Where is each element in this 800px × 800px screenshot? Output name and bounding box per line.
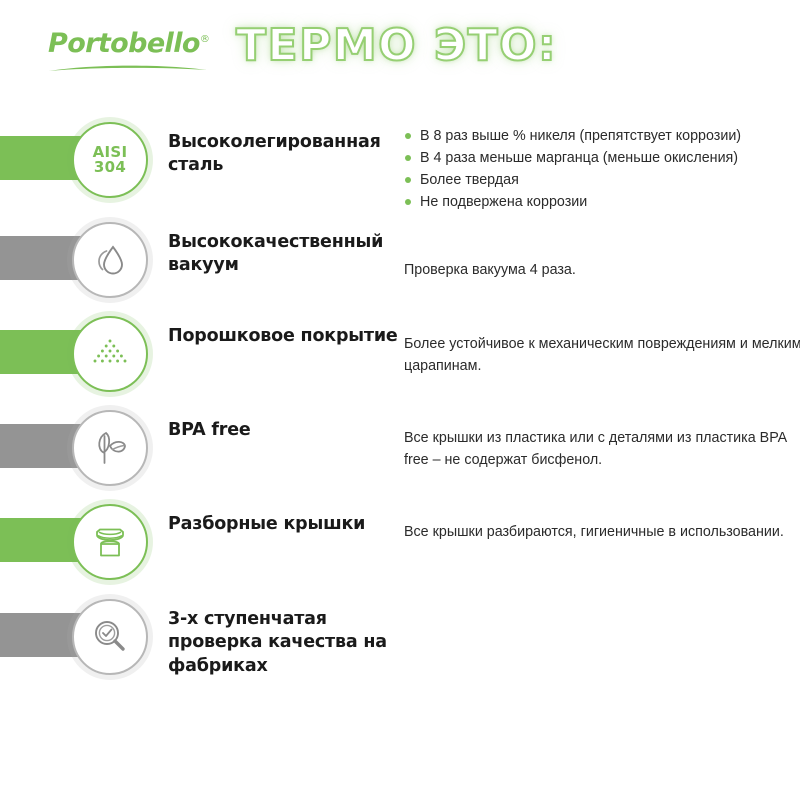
brand-wordmark: Portobello® [48,30,218,57]
powder-dots-glyph [89,334,131,374]
aisi-304-badge-icon: AISI 304 [72,122,148,198]
feature-description: Все крышки из пластика или с деталями из… [404,428,800,471]
feature-title: Высоколегированная сталь [168,131,403,178]
feature-description: Проверка вакуума 4 раза. [404,260,800,282]
feature-description: Более устойчивое к механическим поврежде… [404,334,800,377]
aisi-badge-text: AISI 304 [93,145,128,176]
water-drop-glyph [89,239,131,281]
feature-title: BPA free [168,419,403,442]
brand-name: Portobello [48,28,200,59]
feature-description: Все крышки разбираются, гигиеничные в ис… [404,522,800,544]
magnifier-check-glyph [88,615,132,659]
feature-title: Разборные крышки [168,513,403,536]
portobello-logo: Portobello® [48,30,218,78]
feature-title: 3-х ступенчатая проверка качества на фаб… [168,608,403,678]
detachable-lid-glyph [88,520,132,564]
list-item: Более твердая [404,169,800,191]
list-item: Не подвержена коррозии [404,191,800,213]
magnifier-check-icon [72,599,148,675]
detachable-lid-icon [72,504,148,580]
registered-trademark-icon: ® [200,34,209,45]
leaves-glyph [88,427,132,469]
feature-title: Порошковое покрытие [168,325,403,348]
powder-dots-icon [72,316,148,392]
feature-title: Высококачественный вакуум [168,231,403,278]
water-drop-icon [72,222,148,298]
header: Portobello® ТЕРМО ЭТО: [0,0,800,110]
aisi-line-2: 304 [93,160,128,175]
list-item: В 4 раза меньше марганца (меньше окислен… [404,147,800,169]
page-title: ТЕРМО ЭТО: [236,24,557,68]
leaves-icon [72,410,148,486]
logo-swoosh-icon [48,63,208,72]
feature-bullet-list: В 8 раз выше % никеля (препятствует корр… [404,125,800,214]
list-item: В 8 раз выше % никеля (препятствует корр… [404,125,800,147]
